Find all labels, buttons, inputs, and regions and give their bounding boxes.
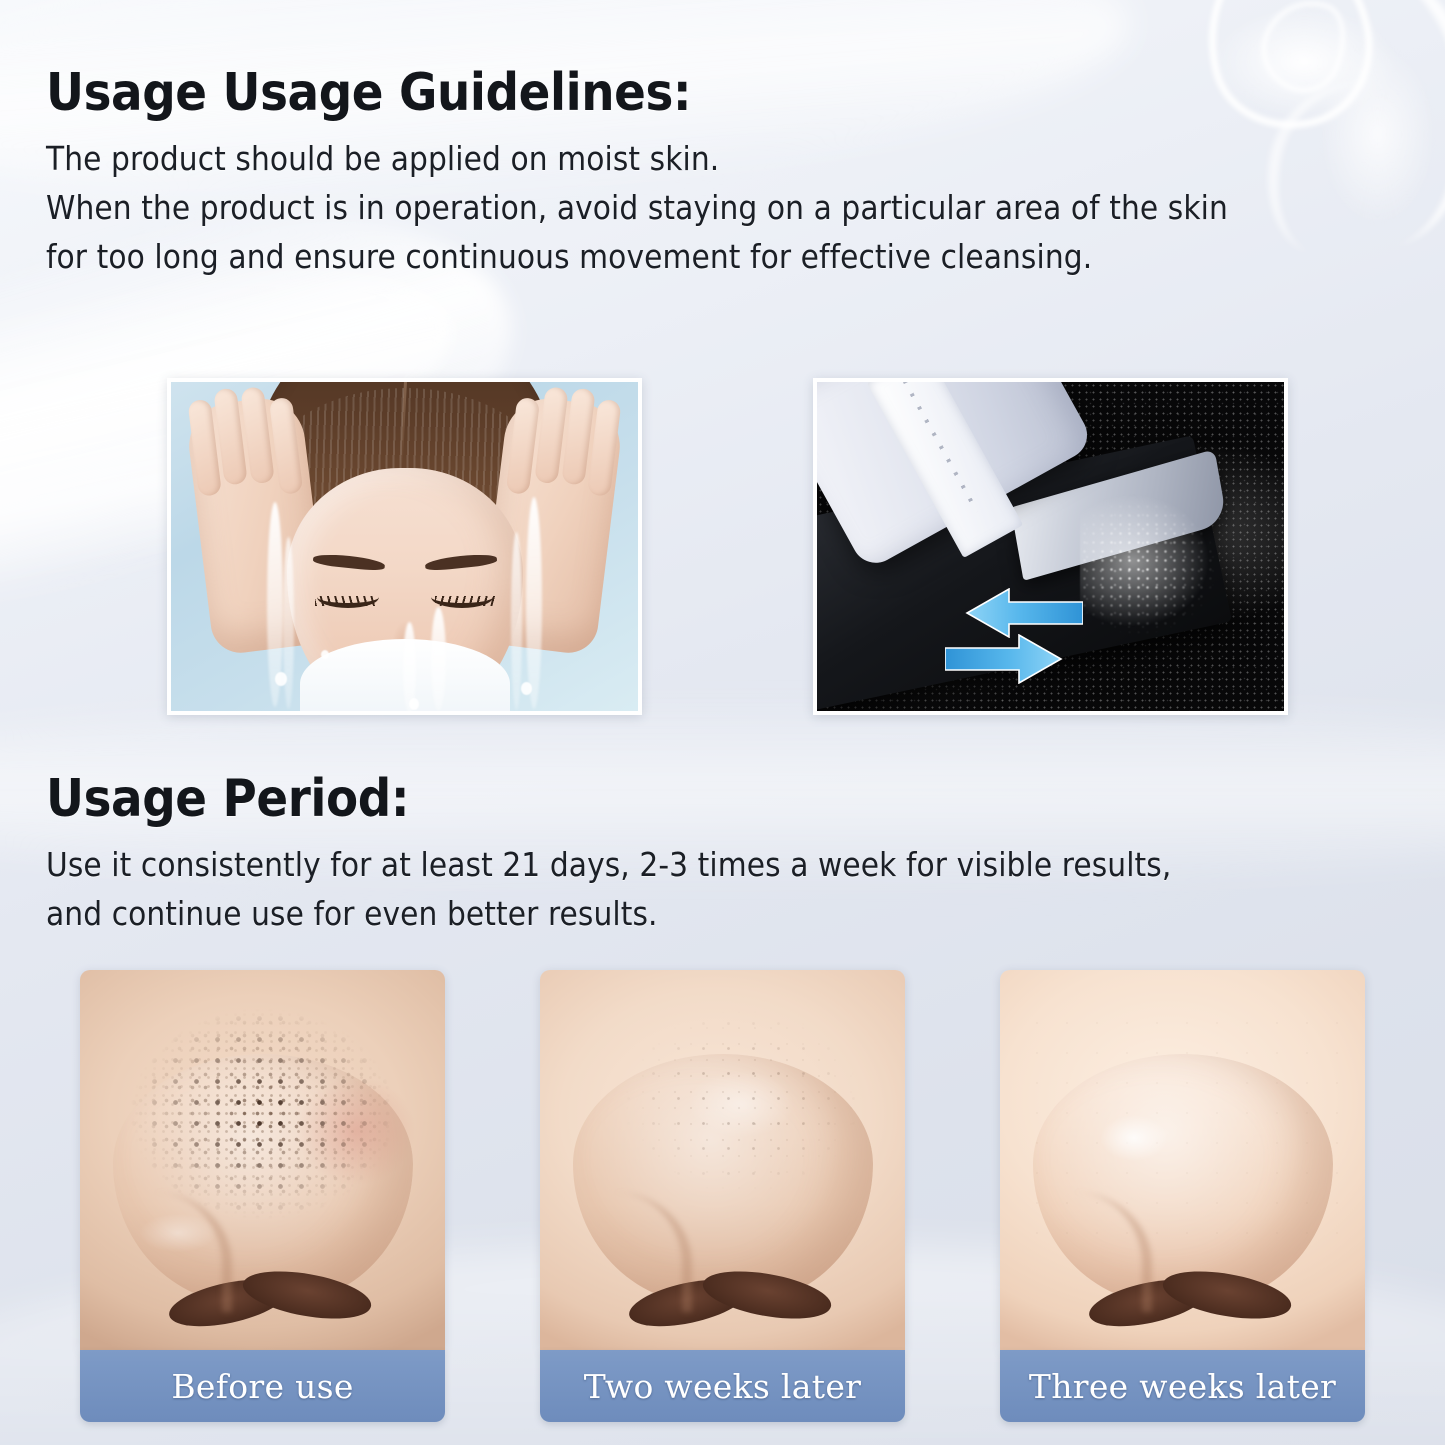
usage-period-body: Use it consistently for at least 21 days… bbox=[46, 840, 1171, 938]
product-infographic-page: Usage Usage Guidelines: The product shou… bbox=[0, 0, 1445, 1445]
usage-period-line-1: Use it consistently for at least 21 days… bbox=[46, 840, 1171, 889]
water-stream bbox=[526, 497, 542, 709]
result-caption-three-weeks: Three weeks later bbox=[1000, 1350, 1365, 1422]
nose-photo-two-weeks bbox=[540, 970, 905, 1350]
water-stream bbox=[511, 532, 522, 710]
water-droplet bbox=[275, 672, 287, 686]
eyelash-shape bbox=[435, 596, 495, 606]
skin-highlight bbox=[686, 1069, 796, 1139]
water-stream bbox=[431, 607, 446, 711]
caption-text: Two weeks later bbox=[584, 1367, 861, 1406]
usage-period-section: Usage Period: Use it consistently for at… bbox=[46, 772, 1171, 938]
mist-speck-texture bbox=[1080, 466, 1288, 676]
nose-photo-before bbox=[80, 970, 445, 1350]
skin-highlight bbox=[1099, 1114, 1169, 1162]
usage-guidelines-section: Usage Usage Guidelines: The product shou… bbox=[46, 66, 1228, 281]
usage-guidelines-title: Usage Usage Guidelines: bbox=[46, 66, 1228, 121]
result-caption-before-use: Before use bbox=[80, 1350, 445, 1422]
water-droplet bbox=[321, 650, 329, 659]
woman-washing-face-photo bbox=[167, 378, 642, 715]
water-droplet-inner-icon bbox=[1248, 0, 1359, 104]
usage-period-line-2: and continue use for even better results… bbox=[46, 889, 1171, 938]
device-closeup-photo bbox=[813, 378, 1288, 715]
water-droplet bbox=[409, 698, 419, 710]
result-card-two-weeks: Two weeks later bbox=[540, 970, 905, 1425]
nose-photo-three-weeks bbox=[1000, 970, 1365, 1350]
result-card-before-use: Before use bbox=[80, 970, 445, 1425]
result-card-three-weeks: Three weeks later bbox=[1000, 970, 1365, 1425]
hair-part-line bbox=[399, 378, 410, 466]
caption-text: Three weeks later bbox=[1029, 1367, 1336, 1406]
usage-guidelines-body: The product should be applied on moist s… bbox=[46, 134, 1228, 281]
washing-scene bbox=[171, 382, 638, 711]
result-caption-two-weeks: Two weeks later bbox=[540, 1350, 905, 1422]
eyebrow-shape bbox=[424, 552, 497, 571]
caption-text: Before use bbox=[171, 1367, 353, 1406]
usage-guidelines-line-2: When the product is in operation, avoid … bbox=[46, 183, 1228, 232]
eyebrow-shape bbox=[312, 552, 385, 571]
water-droplet bbox=[521, 682, 532, 695]
water-swirl-tail-2-icon bbox=[1252, 65, 1445, 275]
device-scene bbox=[817, 382, 1284, 711]
water-swirl-tail-icon bbox=[1229, 0, 1445, 264]
motion-arrow-right-icon bbox=[945, 634, 1063, 684]
usage-period-title: Usage Period: bbox=[46, 772, 1171, 827]
water-mist-spray bbox=[1080, 466, 1288, 676]
usage-guidelines-line-3: for too long and ensure continuous movem… bbox=[46, 232, 1228, 281]
usage-guidelines-line-1: The product should be applied on moist s… bbox=[46, 134, 1228, 183]
eyelash-shape bbox=[315, 596, 375, 606]
motion-arrow-left-icon bbox=[965, 588, 1083, 638]
